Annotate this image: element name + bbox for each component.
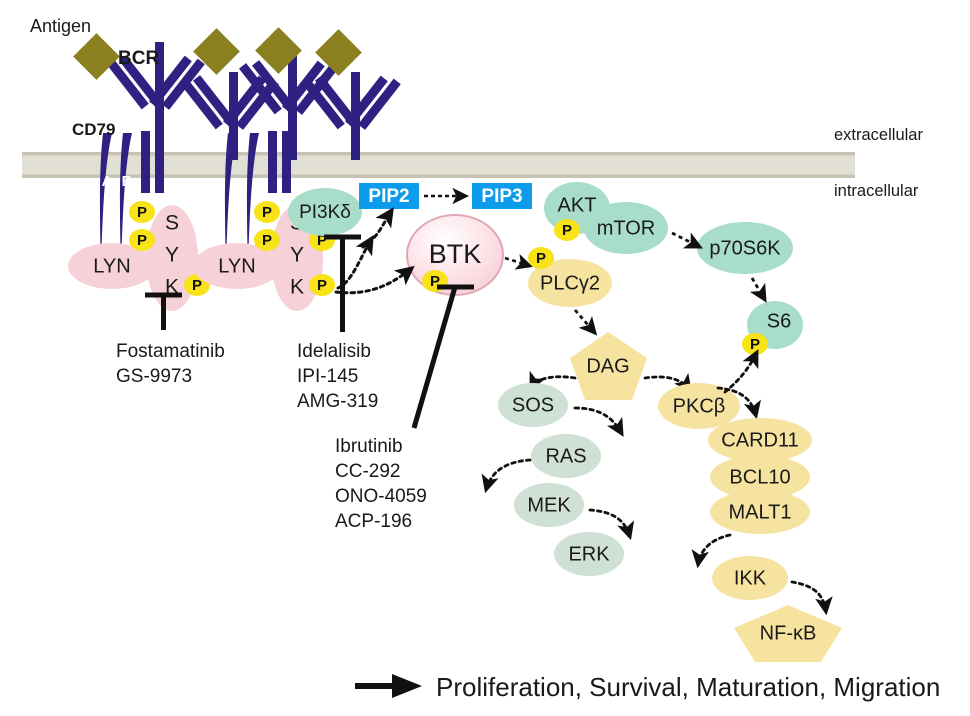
extracellular-label: extracellular — [834, 126, 923, 144]
phospho-letter: P — [750, 336, 760, 353]
phospho-letter: P — [137, 204, 147, 221]
sos-label: SOS — [512, 394, 554, 416]
syk-letter-k-right: K — [290, 276, 304, 299]
outcome-text: Proliferation, Survival, Maturation, Mig… — [436, 672, 940, 702]
arrow-sos-to-ras — [575, 408, 622, 434]
antigen-label: Antigen — [30, 16, 91, 36]
phospho-letter: P — [262, 232, 272, 249]
bcr-pathway-diagram: extracellular intracellular — [0, 0, 970, 716]
pi3kd-label: PI3Kδ — [299, 202, 351, 223]
malt1-label: MALT1 — [729, 501, 792, 523]
arrow-ras-to-mek — [486, 460, 530, 490]
arrow-malt1-to-ikk — [698, 535, 730, 565]
btk-inhibitor-line-4: ACP-196 — [335, 511, 412, 532]
cd79-a-label: A — [102, 173, 113, 190]
ikk-label: IKK — [734, 567, 767, 589]
phospho-letter: P — [317, 277, 327, 294]
arrow-pkcb-to-s6 — [725, 352, 757, 392]
syk-inhibitor-line-2: GS-9973 — [116, 366, 192, 387]
akt-label: AKT — [558, 194, 597, 216]
syk-inhibitor-line-1: Fostamatinib — [116, 341, 225, 362]
syk-letter-s-left: S — [165, 212, 179, 235]
outcome-arrow — [355, 674, 422, 698]
pkcb-label: PKCβ — [673, 395, 726, 417]
s6-label: S6 — [767, 310, 791, 332]
p70s6k-label: p70S6K — [709, 237, 781, 259]
phospho-letter: P — [137, 232, 147, 249]
nfkb-label: NF-κB — [760, 622, 817, 644]
inhibitor-bar-btk — [414, 287, 474, 428]
pi3kd-inhibitor-line-1: Idelalisib — [297, 341, 371, 362]
arrow-btk-to-plcg2 — [505, 258, 530, 266]
mek-label: MEK — [527, 494, 571, 516]
pi3kd-inhibitor-line-2: IPI-145 — [297, 366, 358, 387]
lyn-label-right: LYN — [218, 255, 255, 277]
dag-label: DAG — [586, 355, 629, 377]
arrow-p70s6k-to-s6 — [752, 278, 765, 300]
syk-letter-y-right: Y — [290, 244, 304, 267]
cd79-label: CD79 — [72, 120, 115, 139]
arrow-ikk-to-nfkb — [792, 582, 826, 612]
btk-label: BTK — [429, 239, 482, 269]
btk-inhibitor-line-1: Ibrutinib — [335, 436, 403, 457]
intracellular-label: intracellular — [834, 182, 919, 200]
inhibitor-label-pi3kd: Idelalisib IPI-145 AMG-319 — [297, 341, 378, 412]
pathway-canvas: extracellular intracellular — [0, 0, 970, 716]
btk-inhibitor-line-3: ONO-4059 — [335, 486, 427, 507]
lyn-label-left: LYN — [93, 255, 130, 277]
inhibitor-label-btk: Ibrutinib CC-292 ONO-4059 ACP-196 — [335, 436, 427, 532]
syk-letter-y-left: Y — [165, 244, 179, 267]
phospho-letter: P — [536, 250, 546, 267]
card11-label: CARD11 — [721, 429, 798, 451]
lyn-syk-complex-1: LYN S Y K P P P — [68, 201, 210, 311]
phospho-letter: P — [262, 204, 272, 221]
btk-inhibitor-line-2: CC-292 — [335, 461, 400, 482]
cd79-b-label: B — [122, 173, 133, 190]
erk-label: ERK — [568, 543, 610, 565]
ras-label: RAS — [545, 445, 586, 467]
pip3-label: PIP3 — [481, 186, 522, 207]
arrow-plcg2-to-dag — [575, 310, 595, 333]
bcr-label: BCR — [118, 48, 159, 69]
mtor-label: mTOR — [597, 217, 656, 239]
inhibitor-label-syk: Fostamatinib GS-9973 — [116, 341, 225, 387]
pip2-label: PIP2 — [368, 186, 409, 207]
antigen-diamond-1 — [73, 33, 120, 80]
plcg2-label: PLCγ2 — [540, 272, 600, 294]
phospho-letter: P — [192, 277, 202, 294]
phospho-letter: P — [562, 222, 572, 239]
arrow-pi3kd-to-pip2 — [363, 210, 392, 247]
bcl10-label: BCL10 — [729, 466, 790, 488]
pi3kd-inhibitor-line-3: AMG-319 — [297, 391, 378, 412]
arrow-mtor-to-p70s6k — [672, 233, 700, 247]
